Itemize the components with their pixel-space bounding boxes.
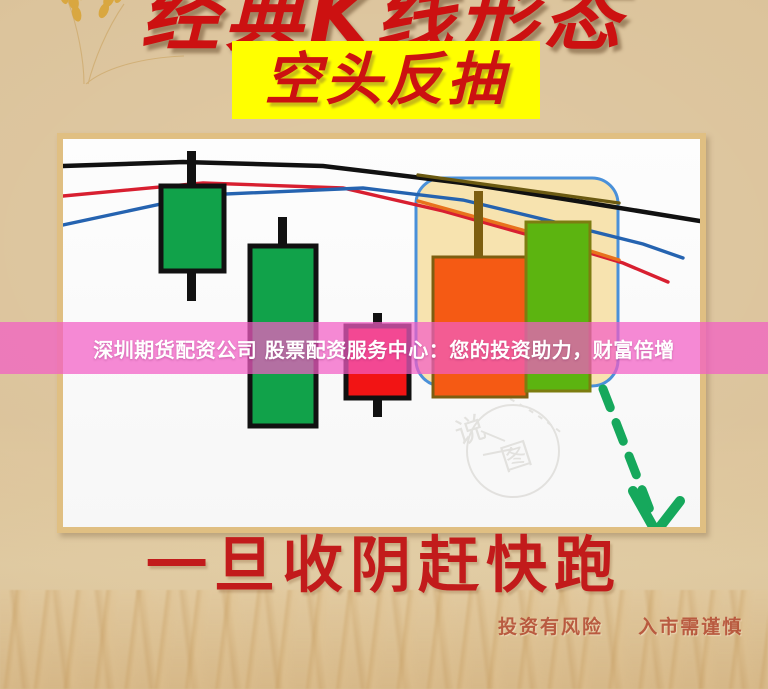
downtrend-arrow-icon (603, 389, 680, 527)
poster-headline-badge: 空头反抽 (232, 41, 540, 119)
poster-disclaimer: 投资有风险 入市需谨慎 (498, 612, 743, 639)
candle-green-1 (161, 151, 224, 301)
poster-headline-badge-text: 空头反抽 (264, 52, 508, 109)
poster-slogan: 一旦收阴赶快跑 (0, 535, 768, 596)
promo-banner[interactable]: 深圳期货配资公司 股票配资服务中心：您的投资助力，财富倍增 (0, 322, 768, 374)
disclaimer-left-text: 投资有风险 (498, 616, 603, 638)
promo-banner-text: 深圳期货配资公司 股票配资服务中心：您的投资助力，财富倍增 (93, 334, 674, 363)
poster-root: 经典K线形态 空头反抽 说 图 (0, 0, 768, 689)
disclaimer-right-text: 入市需谨慎 (638, 616, 743, 638)
